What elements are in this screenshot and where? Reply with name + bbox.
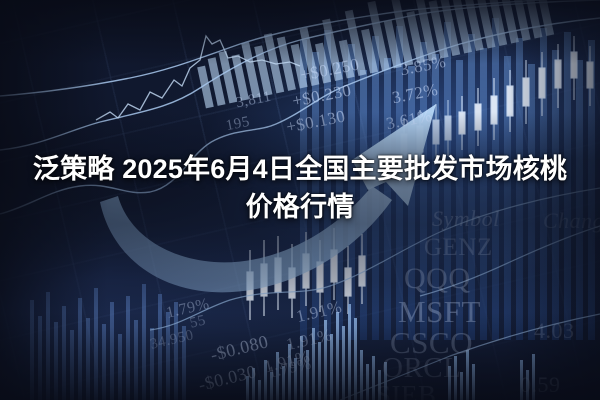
page-title: 泛策略 2025年6月4日全国主要批发市场核桃价格行情 — [0, 150, 600, 227]
cover-image: Symbol Change GENZ QQQ MSFT CSCO ORCL SI… — [0, 0, 600, 400]
